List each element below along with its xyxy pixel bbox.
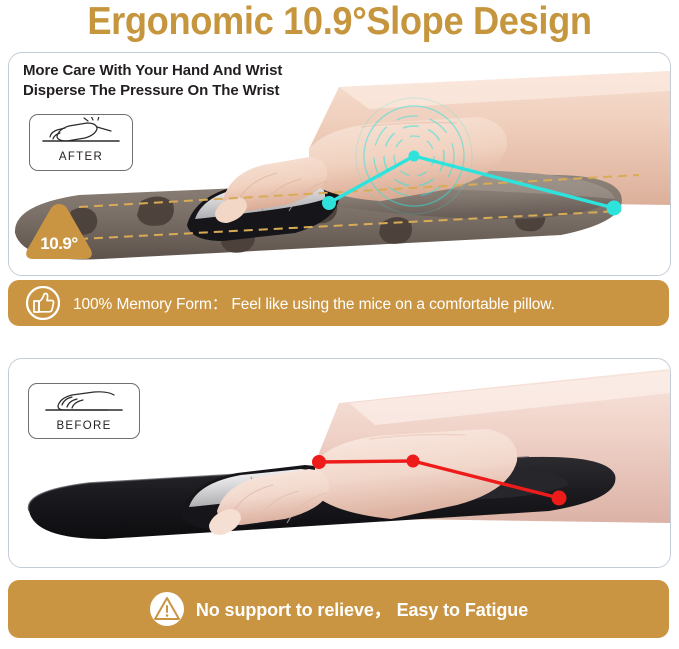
page-title: Ergonomic 10.9°Slope Design [24, 0, 655, 46]
hand-flat-on-desk-icon [38, 386, 130, 417]
after-state-badge: AFTER [29, 114, 133, 171]
memory-foam-banner-text: 100% Memory Form： Feel like using the mi… [73, 292, 555, 314]
hand-on-supported-mouse-icon [35, 117, 127, 148]
panel-after: More Care With Your Hand And Wrist Dispe… [8, 52, 671, 276]
after-headline: More Care With Your Hand And Wrist Dispe… [23, 61, 282, 101]
thumbs-up-icon [26, 286, 60, 320]
angle-triangle-icon [19, 198, 99, 266]
slope-angle-badge: 10.9° [19, 198, 99, 266]
fatigue-banner: No support to relieve， Easy to Fatigue [8, 580, 669, 638]
warning-triangle-icon [149, 591, 185, 627]
before-badge-label: BEFORE [56, 419, 111, 433]
after-headline-line2: Disperse The Pressure On The Wrist [23, 81, 282, 101]
after-headline-line1: More Care With Your Hand And Wrist [23, 61, 282, 81]
fatigue-banner-text: No support to relieve， Easy to Fatigue [196, 596, 528, 622]
slope-angle-value: 10.9° [19, 234, 99, 254]
after-badge-label: AFTER [59, 150, 103, 164]
before-state-badge: BEFORE [28, 383, 140, 439]
memory-foam-banner: 100% Memory Form： Feel like using the mi… [8, 280, 669, 326]
panel-before: BEFORE [8, 358, 671, 568]
